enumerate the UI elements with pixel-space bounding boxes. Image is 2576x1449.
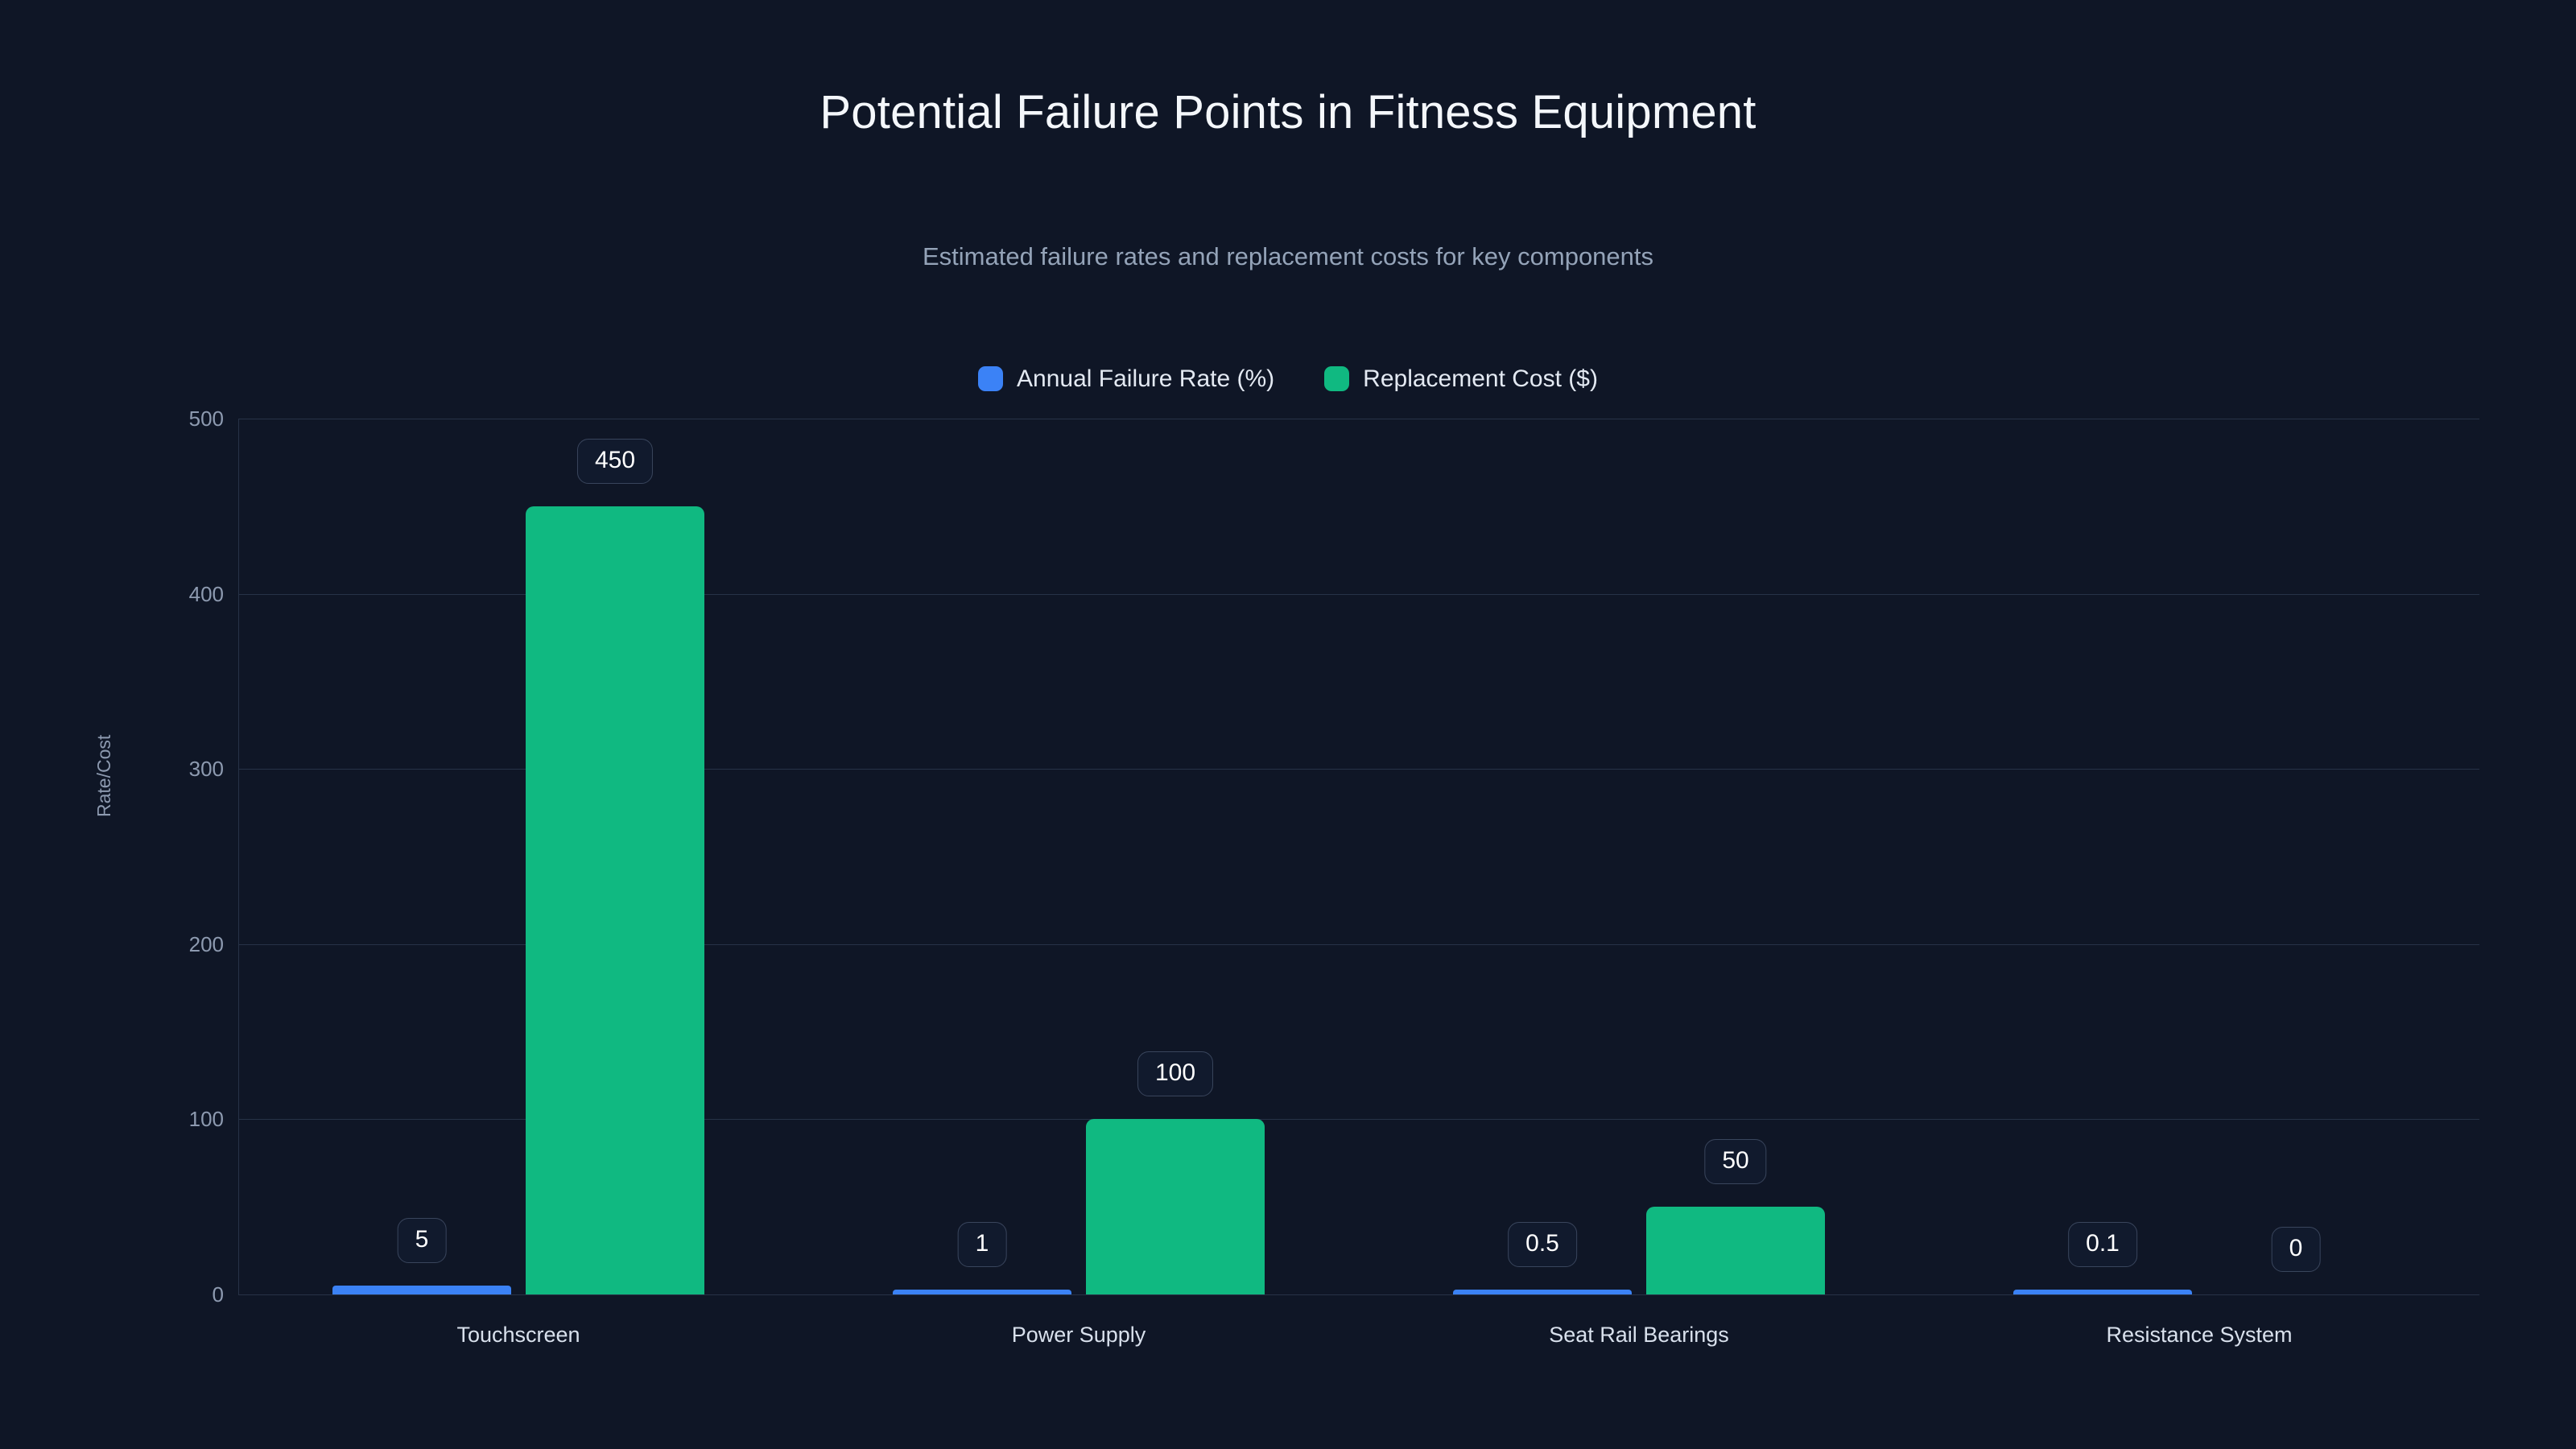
bar-1-1[interactable] <box>1086 1119 1265 1294</box>
value-label: 100 <box>1137 1051 1213 1096</box>
legend-item-replacement-cost[interactable]: Replacement Cost ($) <box>1324 366 1598 391</box>
chart-title: Potential Failure Points in Fitness Equi… <box>0 87 2576 138</box>
y-axis-tick-label: 100 <box>23 1108 224 1129</box>
value-label: 450 <box>577 439 653 484</box>
x-axis-category-label: Touchscreen <box>456 1324 580 1346</box>
bar-1-0[interactable] <box>526 506 704 1294</box>
bar-0-3[interactable] <box>2013 1290 2192 1294</box>
value-label: 50 <box>1704 1139 1766 1184</box>
x-axis-category-label: Seat Rail Bearings <box>1549 1324 1729 1346</box>
x-axis-category-label: Resistance System <box>2106 1324 2292 1346</box>
y-axis-tick-label: 500 <box>23 408 224 429</box>
y-axis-tick-label: 300 <box>23 758 224 779</box>
legend-item-annual-failure-rate[interactable]: Annual Failure Rate (%) <box>978 366 1274 391</box>
bar-0-2[interactable] <box>1453 1290 1632 1294</box>
value-label: 5 <box>398 1218 447 1263</box>
chart-subtitle: Estimated failure rates and replacement … <box>0 242 2576 271</box>
legend-swatch-icon-blue <box>978 366 1003 391</box>
y-axis-tick-label: 400 <box>23 584 224 605</box>
value-label: 1 <box>958 1222 1007 1267</box>
chart-legend: Annual Failure Rate (%) Replacement Cost… <box>0 366 2576 391</box>
legend-swatch-icon-green <box>1324 366 1349 391</box>
value-label: 0.1 <box>2068 1222 2137 1267</box>
value-label: 0 <box>2272 1227 2321 1272</box>
value-label: 0.5 <box>1508 1222 1577 1267</box>
bar-0-1[interactable] <box>893 1290 1071 1294</box>
plot-area <box>238 419 2479 1294</box>
x-axis-category-label: Power Supply <box>1012 1324 1146 1346</box>
gridline <box>238 419 2479 419</box>
bar-0-0[interactable] <box>332 1286 511 1294</box>
chart-container: Potential Failure Points in Fitness Equi… <box>0 0 2576 1449</box>
legend-label-annual-failure-rate: Annual Failure Rate (%) <box>1017 367 1274 391</box>
y-axis-tick-label: 200 <box>23 934 224 955</box>
bar-1-2[interactable] <box>1646 1207 1825 1294</box>
gridline <box>238 1294 2479 1295</box>
y-axis-tick-label: 0 <box>23 1284 224 1305</box>
legend-label-replacement-cost: Replacement Cost ($) <box>1363 367 1598 391</box>
